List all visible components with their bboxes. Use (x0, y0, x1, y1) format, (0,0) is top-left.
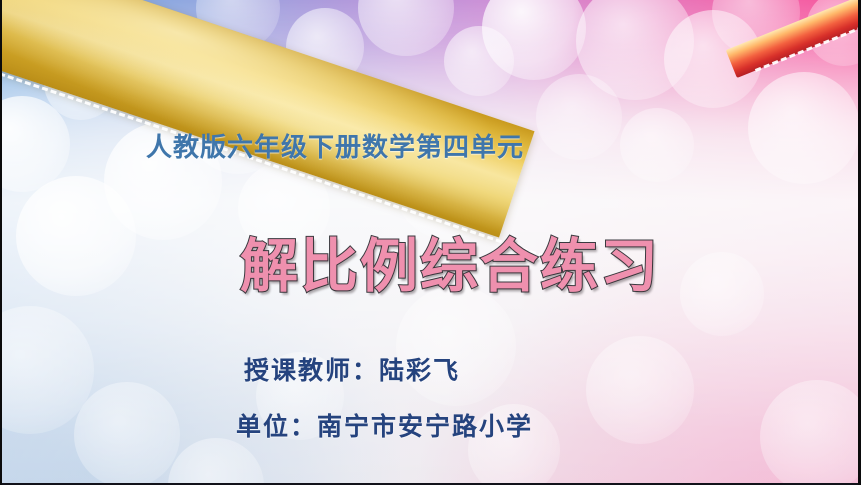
slide-text-layer: 人教版六年级下册数学第四单元 解比例综合练习 授课教师：陆彩飞 单位：南宁市安宁… (0, 0, 861, 485)
presentation-slide: 人教版六年级下册数学第四单元 解比例综合练习 授课教师：陆彩飞 单位：南宁市安宁… (0, 0, 861, 485)
slide-title: 解比例综合练习 (240, 219, 660, 303)
slide-subtitle: 人教版六年级下册数学第四单元 (146, 127, 524, 164)
presenter-line: 授课教师：陆彩飞 (244, 351, 460, 387)
affiliation-line: 单位：南宁市安宁路小学 (236, 407, 533, 443)
